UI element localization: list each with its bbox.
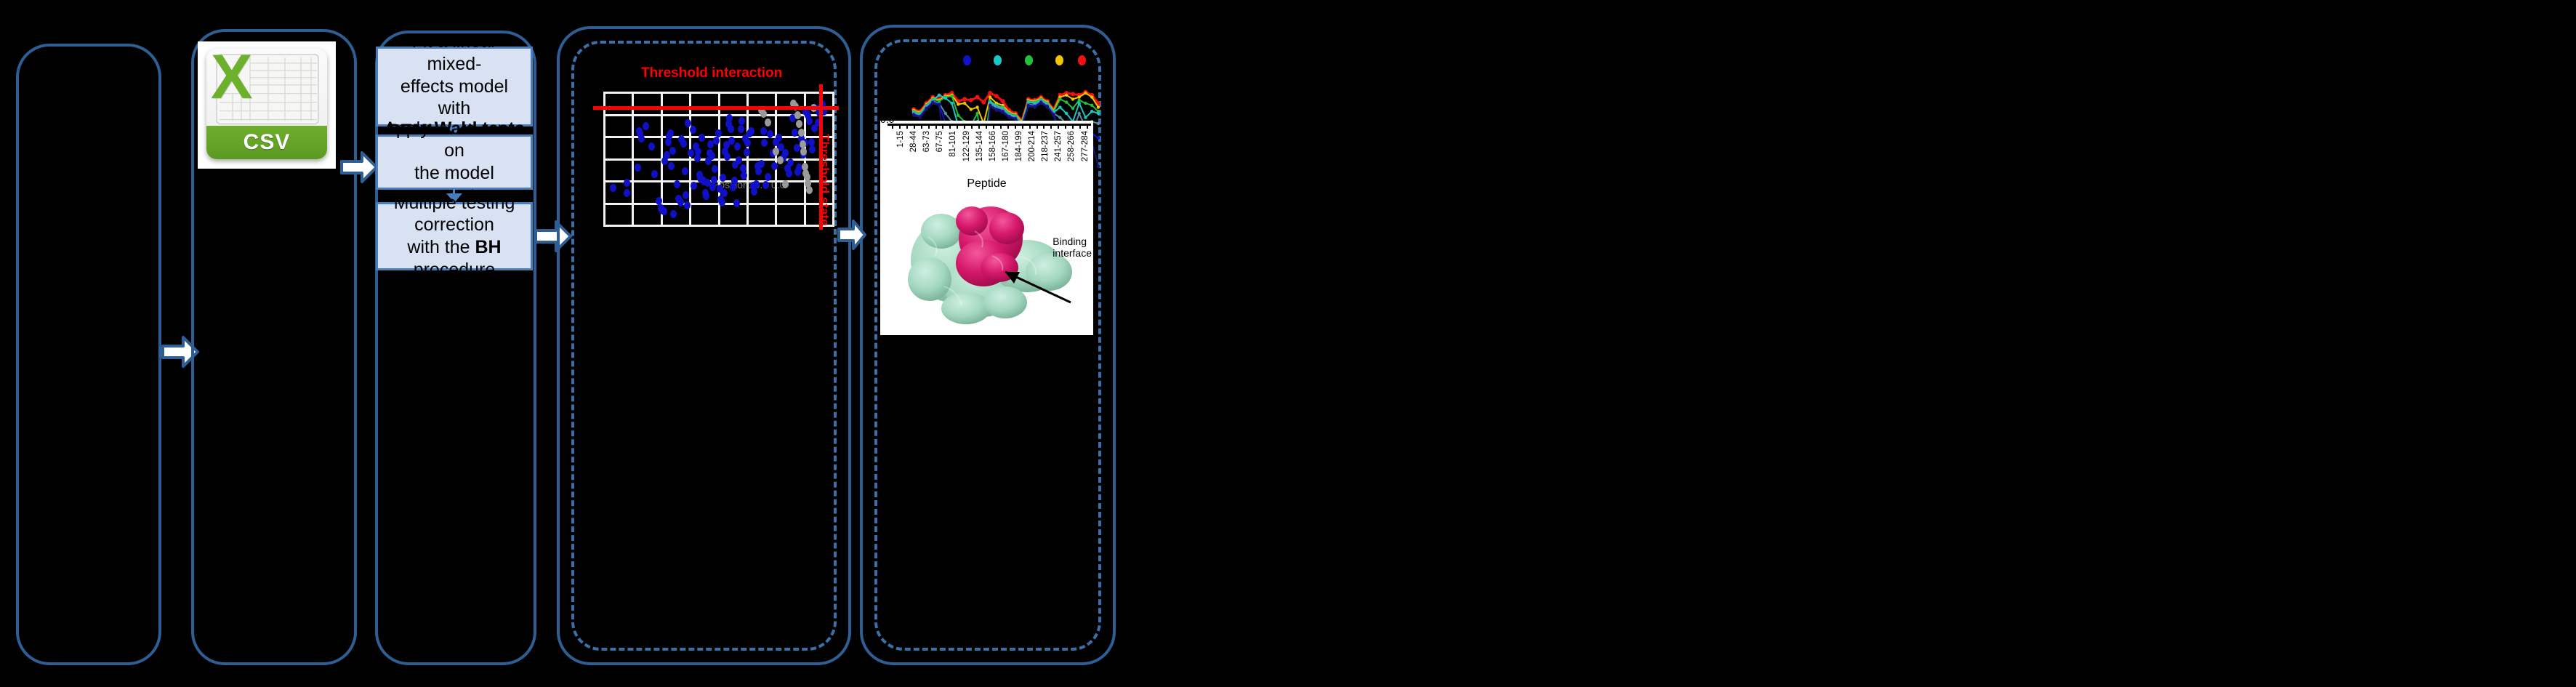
scatter-point [695, 148, 701, 156]
peptide-series-marker [981, 100, 986, 105]
peptide-series-marker [1065, 112, 1068, 115]
peptide-y-tick-label: 0.0 [880, 121, 894, 125]
peptide-tick-label: 277-284 [1081, 131, 1090, 161]
scatter-point [709, 152, 715, 160]
csv-extension-label: CSV [243, 130, 291, 155]
scatter-point [765, 173, 771, 181]
peptide-axis-tick [1050, 124, 1052, 129]
peptide-series-marker [1097, 112, 1100, 115]
peptide-tick-label: 241-257 [1054, 131, 1063, 161]
peptide-series-marker [1097, 165, 1100, 168]
peptide-series-marker [938, 94, 941, 97]
peptide-series-marker [1058, 116, 1061, 118]
scatter-point [758, 160, 765, 168]
fit-model-step[interactable]: Fit a linear mixed-effects model withREM… [376, 47, 533, 126]
peptide-axis-tick [971, 124, 973, 129]
peptide-series-marker [1071, 92, 1075, 96]
peptide-tick-label: 67-75 [935, 131, 944, 152]
peptide-axis-tick [957, 124, 958, 129]
peptide-series-marker [962, 97, 967, 101]
threshold-state-label: Threshold state [817, 134, 832, 226]
multiple-testing-step-text: Multiple testingcorrectionwith the BH pr… [382, 192, 526, 281]
peptide-axis-tick [899, 124, 901, 129]
scatter-point [776, 134, 782, 142]
peptide-tick-label: 218-237 [1041, 131, 1050, 161]
peptide-axis-tick [1000, 124, 1002, 129]
scatter-point [786, 169, 792, 177]
peptide-series-marker [995, 109, 998, 112]
scatter-point [738, 125, 744, 133]
peptide-series-marker [994, 94, 999, 98]
scatter-gridline-horizontal [603, 92, 834, 94]
scatter-plot-area: Position: 0.0 0.0Threshold state [603, 92, 834, 227]
peptide-axis-tick [986, 124, 987, 129]
peptide-axis-tick [993, 124, 994, 129]
peptide-series-marker [1090, 110, 1093, 113]
peptide-series-marker [1084, 102, 1087, 105]
scatter-point [669, 147, 676, 155]
scatter-point [755, 167, 762, 175]
scatter-point [682, 167, 688, 175]
scatter-point [703, 192, 709, 200]
peptide-tick-label: 63-73 [922, 131, 931, 152]
peptide-axis-tick [942, 124, 943, 129]
peptide-series-marker [1065, 100, 1068, 103]
scatter-point [680, 140, 687, 148]
threshold-interaction-line [593, 106, 839, 110]
peptide-axis-tick [1029, 124, 1031, 129]
scatter-point [719, 198, 725, 206]
scatter-point [661, 207, 667, 215]
peptide-series-marker [975, 95, 980, 100]
scatter-point [744, 139, 751, 147]
peptide-series-marker [1097, 122, 1100, 125]
peptide-series-marker [1084, 116, 1087, 118]
excel-x-letter: X [211, 49, 252, 108]
multiple-testing-step[interactable]: Multiple testingcorrectionwith the BH pr… [376, 202, 533, 270]
threshold-interaction-label: Threshold interaction [641, 65, 782, 81]
scatter-point [643, 122, 649, 130]
peptide-axis-tick [1079, 124, 1081, 129]
peptide-tick-label: 81-101 [949, 131, 957, 157]
scatter-point [773, 148, 779, 156]
peptide-series-marker [970, 108, 973, 111]
peptide-axis-tick [1065, 124, 1066, 129]
peptide-axis-tick [1072, 124, 1074, 129]
peptide-series-marker [975, 112, 978, 115]
peptide-series-marker [1071, 97, 1074, 100]
legend-dot-timepoint-1 [963, 55, 971, 65]
scatter-point [782, 180, 789, 188]
threshold-scatter-plot[interactable]: Threshold interaction Position: 0.0 0.0T… [597, 67, 837, 241]
binding-interface-line2: interface [1052, 247, 1092, 259]
peptide-series-marker [944, 97, 947, 100]
peptide-series-marker [1084, 92, 1087, 95]
scatter-point [648, 142, 655, 150]
peptide-series-marker [1078, 112, 1081, 115]
peptide-series-marker [1039, 102, 1042, 105]
peptide-axis-tick [921, 124, 922, 129]
peptide-series-marker [1097, 105, 1100, 108]
scatter-point [699, 134, 705, 142]
scatter-point [688, 149, 694, 157]
peptide-series-marker [1090, 95, 1093, 98]
peptide-series-marker [1001, 99, 1005, 103]
scatter-point [677, 198, 684, 206]
legend-dot-timepoint-4 [1055, 55, 1063, 65]
csv-extension-band: CSV [206, 126, 327, 159]
peptide-axis-tick [914, 124, 915, 129]
scatter-point [800, 140, 806, 148]
peptide-series-marker [1027, 105, 1030, 108]
scatter-point [610, 184, 616, 192]
legend-dot-timepoint-2 [994, 55, 1002, 65]
peptide-axis-tick [1037, 124, 1038, 129]
scatter-point [694, 154, 701, 162]
peptide-series-marker [957, 114, 959, 117]
peptide-axis-tick [1007, 124, 1009, 129]
figure-canvas: X CSV Fit a linear mixed-effects model w… [0, 0, 2576, 687]
peptide-axis-tick [1043, 124, 1045, 129]
scatter-point [751, 188, 757, 196]
peptide-series-marker [1078, 95, 1081, 98]
peptide-series-marker [969, 98, 973, 103]
peptide-series-marker [912, 114, 915, 117]
peptide-axis-tick [928, 124, 930, 129]
csv-file-icon: X CSV [206, 49, 327, 159]
scatter-point [796, 120, 802, 128]
peptide-series-marker [1033, 105, 1036, 108]
scatter-point [809, 145, 816, 153]
scatter-point [684, 201, 691, 209]
scatter-point [767, 130, 773, 138]
scatter-point [635, 164, 641, 172]
empty-stage-panel[interactable] [16, 44, 161, 665]
peptide-tick-label: 28-44 [909, 131, 918, 152]
scatter-point [728, 125, 734, 133]
peptide-series-marker [1046, 105, 1049, 108]
scatter-point [668, 162, 675, 170]
peptide-axis-structure-card: 1-1528-4463-7367-7581-101122-129135-1441… [880, 121, 1093, 335]
scatter-point [733, 199, 740, 207]
scatter-point [667, 129, 674, 137]
peptide-tick-label: 167-180 [1002, 131, 1010, 161]
scatter-point [808, 138, 815, 146]
peptide-axis-tick [964, 124, 965, 129]
scatter-point [761, 139, 768, 147]
peptide-tick-label: 184-199 [1015, 131, 1023, 161]
protein-surface-render [896, 193, 1078, 332]
scatter-point [787, 158, 794, 166]
peptide-series-marker [988, 91, 992, 95]
peptide-series-marker [925, 108, 927, 111]
peptide-series-marker [944, 112, 947, 115]
peptide-series-marker [989, 95, 991, 98]
peptide-series-marker [938, 104, 941, 107]
peptide-series-marker [975, 105, 978, 108]
scatter-point [792, 129, 798, 137]
peptide-series-marker [1071, 107, 1074, 110]
scatter-point [762, 181, 769, 189]
scatter-point [691, 182, 697, 190]
peptide-series-marker [1058, 97, 1061, 100]
peptide-axis-tick [1087, 124, 1088, 129]
scatter-point [711, 176, 717, 184]
peptide-series-marker [1090, 104, 1093, 107]
scatter-point [726, 114, 733, 122]
peptide-axis-tick [1015, 124, 1016, 129]
scatter-gridline-horizontal [603, 225, 834, 227]
scatter-point [683, 191, 689, 199]
peptide-series-marker [1097, 136, 1100, 139]
peptide-tick-label: 1-15 [896, 131, 905, 148]
peptide-series-marker [957, 103, 959, 105]
peptide-axis-tick [978, 124, 980, 129]
scatter-point [690, 126, 696, 134]
scatter-point [624, 179, 630, 187]
scatter-point [624, 189, 630, 197]
peptide-axis-tick [949, 124, 951, 129]
scatter-point [674, 180, 680, 188]
peptide-series-marker [1001, 111, 1004, 113]
peptide-series-marker [989, 105, 991, 108]
peptide-series-marker [963, 102, 966, 105]
peptide-series-marker [1078, 102, 1081, 105]
peptide-series-marker [1052, 114, 1055, 117]
peptide-series-marker [919, 116, 922, 118]
peptide-series-marker [1007, 116, 1010, 118]
legend-dot-timepoint-5 [1078, 55, 1086, 65]
peptide-series-marker [1058, 105, 1061, 108]
arrow-stage4-to-stage5 [837, 218, 866, 252]
peptide-axis-tick [1058, 124, 1059, 129]
peptide-legend [883, 54, 1101, 70]
scatter-point [736, 156, 742, 164]
scatter-point [638, 134, 645, 142]
peptide-axis-tick [906, 124, 908, 129]
wald-tests-step[interactable]: Apply Wald tests onthe model parameters [376, 134, 533, 190]
scatter-point [731, 177, 738, 185]
scatter-point [806, 186, 813, 194]
scatter-point [721, 189, 728, 197]
peptide-series-marker [931, 102, 934, 105]
legend-dot-timepoint-3 [1025, 55, 1033, 65]
scatter-point [670, 210, 677, 218]
peptide-tick-label: 122-129 [962, 131, 971, 161]
scatter-point [651, 170, 658, 178]
scatter-point [748, 127, 754, 135]
scatter-point [760, 110, 767, 118]
peptide-axis-label: Peptide [880, 177, 1093, 190]
scatter-point [777, 156, 784, 164]
peptide-series-marker [1078, 99, 1081, 102]
scatter-gridline-horizontal [603, 158, 834, 161]
binding-interface-callout: Binding interface [1052, 236, 1092, 259]
binding-interface-line1: Binding [1052, 236, 1092, 247]
csv-file-card[interactable]: X CSV [198, 41, 336, 169]
peptide-tick-label: 258-266 [1067, 131, 1076, 161]
peptide-tick-label: 135-144 [975, 131, 984, 161]
peptide-series-marker [950, 95, 953, 97]
peptide-series-marker [950, 102, 953, 105]
scatter-point [794, 111, 801, 119]
scatter-point [738, 117, 745, 125]
arrow-stage2-to-stage3 [340, 150, 378, 185]
scatter-point [765, 118, 771, 126]
scatter-point [744, 148, 750, 156]
peptide-tick-label: 158-166 [989, 131, 997, 161]
peptide-axis: 1-1528-4463-7367-7581-101122-129135-1441… [887, 124, 1091, 128]
scatter-point [713, 137, 720, 145]
peptide-axis-tick [935, 124, 937, 129]
peptide-series-marker [1065, 94, 1068, 97]
peptide-tick-label: 200-214 [1028, 131, 1037, 161]
peptide-axis-tick [1022, 124, 1023, 129]
scatter-point [806, 117, 813, 125]
scatter-point [760, 127, 767, 135]
peptide-axis-line [887, 124, 1091, 126]
scatter-point [782, 149, 789, 157]
scatter-point [734, 142, 741, 150]
